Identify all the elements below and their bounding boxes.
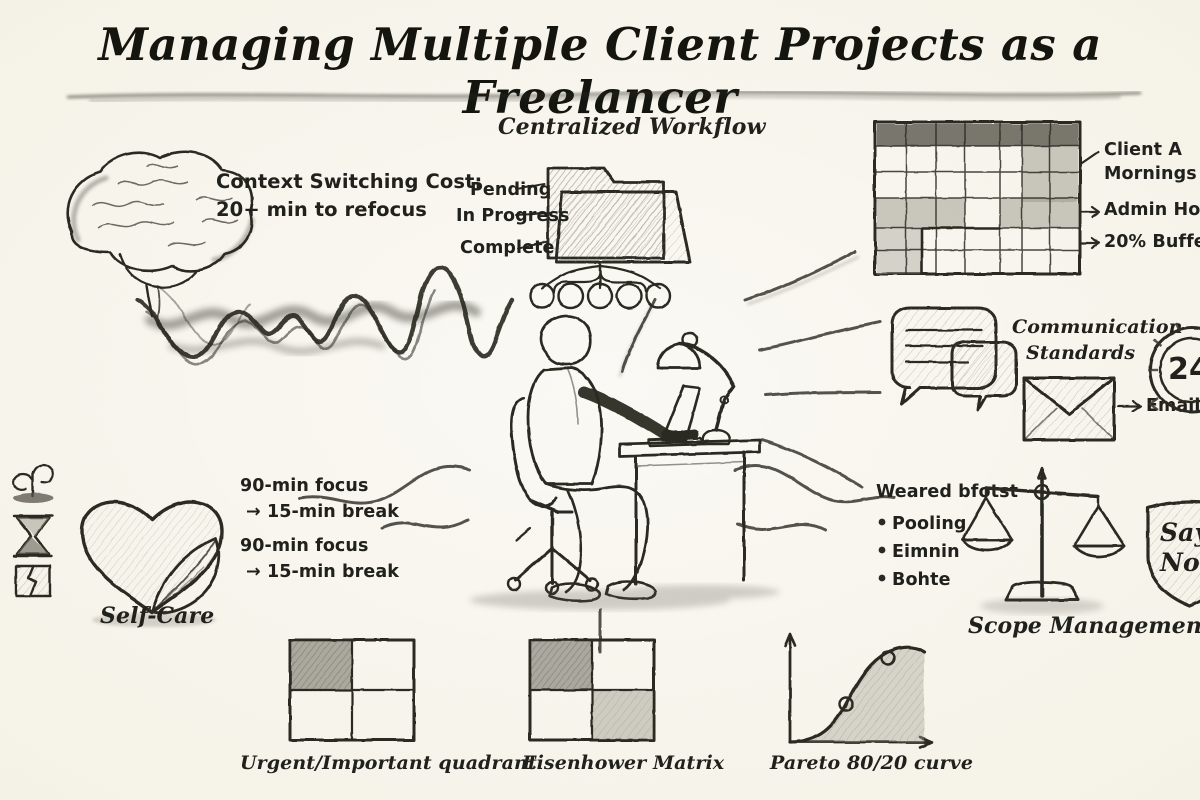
pareto-curve-chart-sketch	[0, 0, 1200, 800]
pareto-curve-caption: Pareto 80/20 curve	[770, 752, 973, 774]
infographic-canvas: Managing Multiple Client Projects as a F…	[0, 0, 1200, 800]
